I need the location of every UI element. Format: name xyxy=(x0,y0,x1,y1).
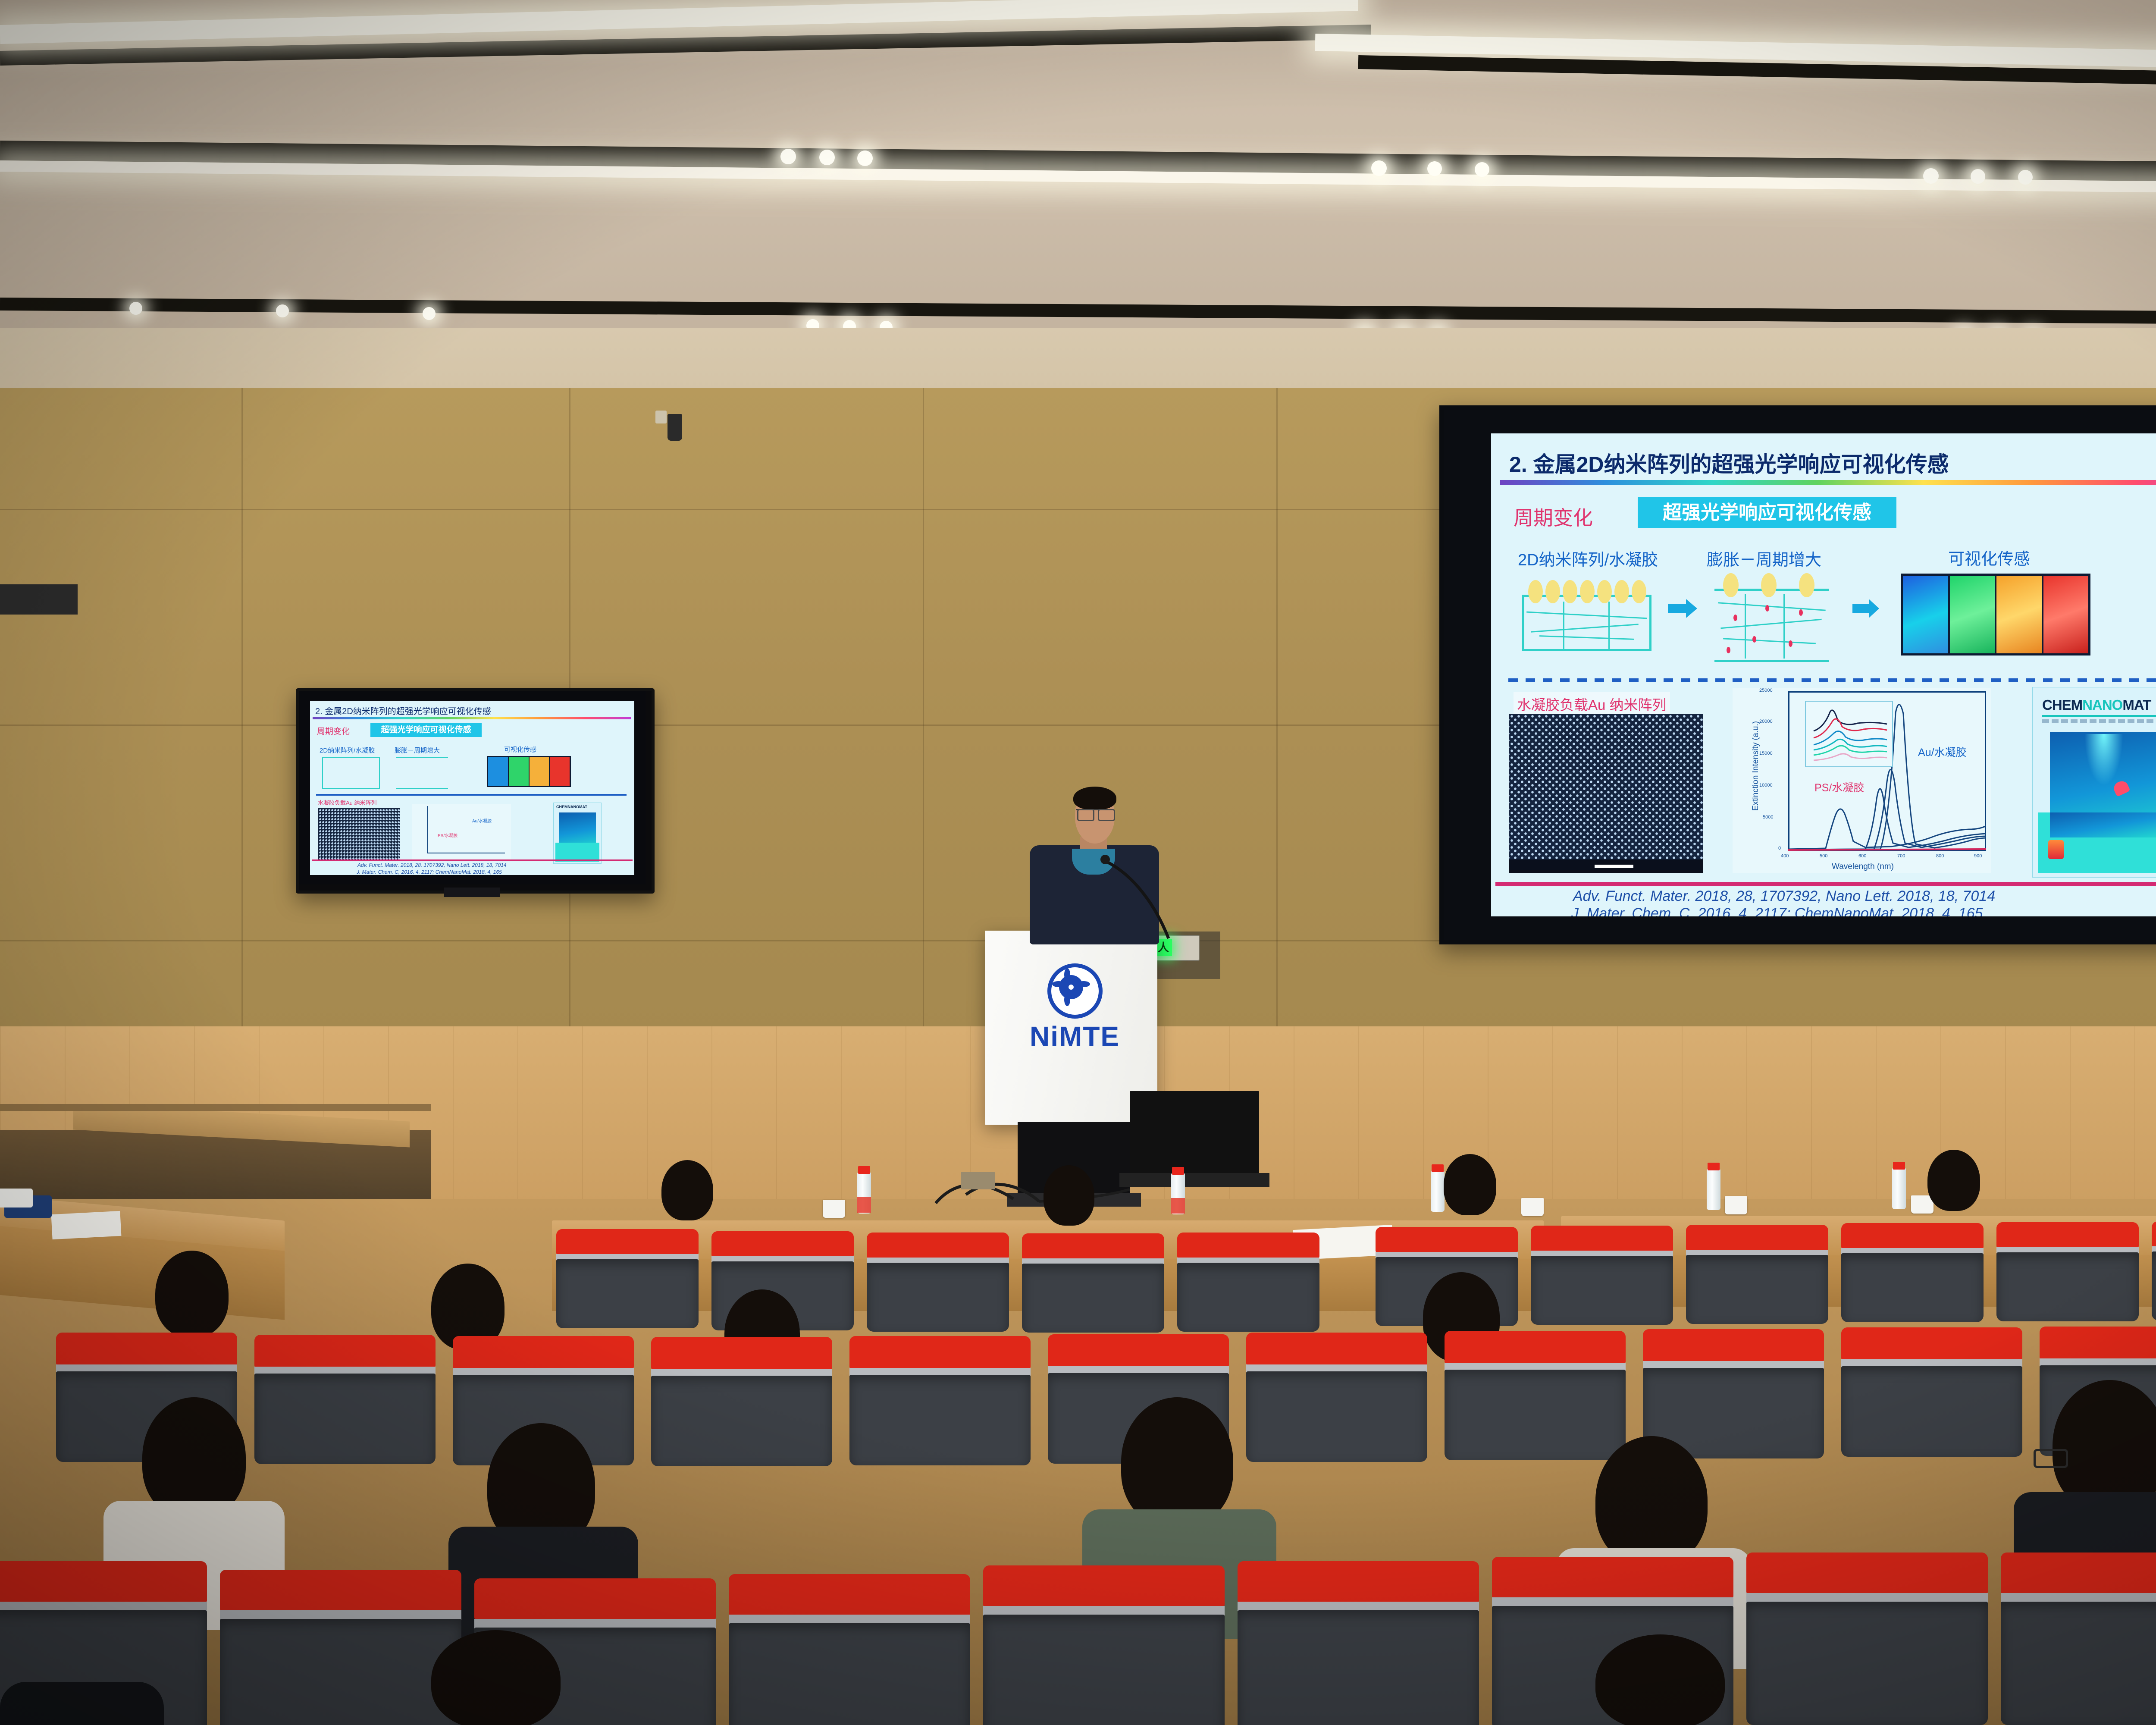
audience-head xyxy=(142,1397,246,1518)
audience-head xyxy=(661,1160,713,1220)
nimte-atom-icon xyxy=(1059,975,1083,999)
slide-content: 2. 金属2D纳米阵列的超强光学响应可视化传感 周期变化 超强光学响应可视化传感… xyxy=(1491,433,2156,916)
audience-glasses-icon xyxy=(2034,1449,2068,1468)
seat xyxy=(983,1565,1225,1725)
downlight xyxy=(819,150,835,165)
y-tick-label: 15000 xyxy=(1759,751,1773,756)
bottle-cap xyxy=(1432,1164,1444,1172)
seat xyxy=(556,1229,699,1328)
monitor-stand xyxy=(444,888,500,897)
seat xyxy=(2152,1221,2156,1320)
microphone-head-icon xyxy=(1100,855,1110,864)
monitor-diagram-2 xyxy=(396,757,448,789)
bottle-cap xyxy=(1893,1162,1905,1170)
downlight xyxy=(1475,162,1489,177)
monitor-curve-au: Au/水凝胶 xyxy=(472,817,492,824)
floor-plate xyxy=(961,1172,995,1189)
seat xyxy=(1445,1331,1626,1460)
flow-arrow-1-head-icon xyxy=(1686,599,1697,618)
paper-cup xyxy=(823,1200,845,1218)
spectra-inset xyxy=(1805,701,1893,767)
y-tick-label: 0 xyxy=(1778,846,1781,851)
seat xyxy=(867,1233,1009,1332)
water-bottle xyxy=(1892,1168,1906,1209)
monitor-slide: 2. 金属2D纳米阵列的超强光学响应可视化传感 周期变化 超强光学响应可视化传感… xyxy=(310,701,634,875)
nimte-logo-icon xyxy=(1047,963,1103,1019)
monitor-journal-cover: CHEMNANOMAT xyxy=(553,803,602,864)
seat xyxy=(1996,1222,2139,1321)
journal-title-part3: MAT xyxy=(2122,697,2151,713)
swatch-orange xyxy=(1996,576,2042,653)
sem-scalebar-line xyxy=(1595,865,1633,868)
projection-screen: 2. 金属2D纳米阵列的超强光学响应可视化传感 周期变化 超强光学响应可视化传感… xyxy=(1439,405,2156,944)
downlight xyxy=(1923,168,1939,184)
seat xyxy=(254,1335,436,1464)
monitor-diagram-1 xyxy=(322,757,380,789)
monitor-banner: 超强光学响应可视化传感 xyxy=(370,723,482,737)
flow-step-3-label: 可视化传感 xyxy=(1948,546,2030,569)
x-tick-label: 700 xyxy=(1897,853,1905,859)
x-tick-label: 500 xyxy=(1820,853,1827,859)
downlight xyxy=(423,307,436,320)
seat xyxy=(1531,1226,1673,1325)
monitor-citation-rule xyxy=(312,859,633,861)
monitor-screen: 2. 金属2D纳米阵列的超强光学响应可视化传感 周期变化 超强光学响应可视化传感… xyxy=(299,691,646,884)
seat xyxy=(1841,1327,2022,1457)
x-tick-label: 900 xyxy=(1974,853,1982,859)
folded-tissue xyxy=(0,1189,33,1207)
monitor-citation-2: J. Mater. Chem. C, 2016, 4, 2117; ChemNa… xyxy=(357,869,502,875)
monitor-journal-title: CHEMNANOMAT xyxy=(556,805,587,809)
seat xyxy=(1686,1225,1828,1324)
seat xyxy=(1246,1333,1427,1462)
audience-head-foreground xyxy=(431,1630,561,1725)
monitor-cover-footer xyxy=(555,843,599,862)
slide-title: 2. 金属2D纳米阵列的超强光学响应可视化传感 xyxy=(1509,447,1949,478)
seat xyxy=(1841,1223,1984,1322)
wall-seam-v xyxy=(1276,388,1278,1026)
monitor-swatches xyxy=(487,756,571,787)
nanoarray-diagram-2 xyxy=(1714,571,1835,666)
seat xyxy=(651,1337,832,1466)
nimte-petal-icon xyxy=(1077,981,1090,987)
journal-subtitle xyxy=(2042,719,2156,723)
y-tick-label: 10000 xyxy=(1759,783,1773,788)
y-tick-label: 25000 xyxy=(1759,688,1773,693)
downlight xyxy=(1971,169,1985,184)
journal-title: CHEMNANOMAT xyxy=(2042,697,2151,713)
monitor-sem-image xyxy=(318,808,400,859)
seat xyxy=(1746,1552,1988,1725)
journal-cover: CHEMNANOMAT xyxy=(2032,687,2156,878)
seat xyxy=(849,1336,1031,1465)
swatch-red xyxy=(2043,576,2089,653)
flow-step-2-label: 膨胀－周期增大 xyxy=(1707,546,1821,570)
downlight xyxy=(1427,161,1442,176)
inset-curves xyxy=(1806,702,1892,766)
seat xyxy=(1238,1561,1479,1725)
monitor-cover-art xyxy=(559,812,596,847)
wall-recess xyxy=(0,584,78,615)
bottle-cap xyxy=(858,1166,870,1174)
paper-cup xyxy=(1521,1198,1544,1216)
seat xyxy=(2001,1552,2156,1725)
journal-cover-art-lower xyxy=(2050,812,2156,837)
flow-arrow-2-icon xyxy=(1852,604,1871,613)
monitor-section-label: 周期变化 xyxy=(317,725,350,737)
downlight xyxy=(276,304,289,317)
citation-line-2: J. Mater. Chem. C, 2016, 4, 2117; ChemNa… xyxy=(1571,905,1983,916)
audience-head xyxy=(1121,1397,1233,1527)
x-tick-label: 600 xyxy=(1858,853,1866,859)
audience-head-foreground xyxy=(1595,1634,1725,1725)
monitor-step1: 2D纳米阵列/水凝胶 xyxy=(320,746,375,755)
auditorium-scene: 2. 金属2D纳米阵列的超强光学响应可视化传感 周期变化 超强光学响应可视化传感… xyxy=(0,0,2156,1725)
water-bottle xyxy=(1707,1169,1720,1210)
water-bottle xyxy=(1431,1170,1445,1212)
monitor-divider xyxy=(316,794,627,796)
nimte-petal-icon xyxy=(1052,981,1065,987)
audience-head xyxy=(1595,1436,1708,1565)
journal-cover-art-beam xyxy=(2084,734,2123,786)
bottle-label xyxy=(857,1197,871,1213)
seat xyxy=(729,1574,970,1725)
y-tick-label: 20000 xyxy=(1759,719,1773,724)
downlight xyxy=(1371,160,1387,176)
slide-divider xyxy=(1508,678,2156,682)
camera-mount xyxy=(655,411,667,423)
monitor-citation-1: Adv. Funct. Mater. 2018, 28, 1707392, Na… xyxy=(357,862,507,868)
wall-seam-v xyxy=(923,388,924,1026)
section-label: 周期变化 xyxy=(1514,502,1593,531)
citation-line-1: Adv. Funct. Mater. 2018, 28, 1707392, Na… xyxy=(1573,888,1995,905)
journal-rule xyxy=(2042,715,2156,717)
plot-y-axis-label: Extinction Intensity (a.u.) xyxy=(1751,701,1761,831)
speaker-glasses-lens-icon xyxy=(1077,809,1094,821)
plot-x-axis-label: Wavelength (nm) xyxy=(1832,862,1894,872)
y-tick-label: 5000 xyxy=(1763,815,1773,820)
audience-head xyxy=(1927,1150,1980,1211)
downlight xyxy=(129,302,142,315)
seat xyxy=(1643,1329,1824,1458)
audience-head xyxy=(1044,1165,1094,1226)
highlight-banner: 超强光学响应可视化传感 xyxy=(1638,497,1896,528)
flow-arrow-1-icon xyxy=(1668,604,1688,613)
bottle-cap xyxy=(1708,1163,1720,1170)
seat xyxy=(1022,1233,1164,1333)
seat xyxy=(1177,1233,1319,1332)
flow-step-1-label: 2D纳米阵列/水凝胶 xyxy=(1518,546,1658,570)
x-tick-label: 800 xyxy=(1936,853,1944,859)
stage-monitor-speaker xyxy=(1130,1091,1259,1177)
monitor-title-rule xyxy=(313,717,631,719)
speaker-glasses-lens-icon xyxy=(1098,809,1115,821)
journal-title-part2: NANO xyxy=(2082,697,2122,713)
stage-riser-edge xyxy=(0,1104,431,1111)
flow-arrow-2-head-icon xyxy=(1869,599,1879,618)
color-sensing-panel xyxy=(1901,574,2090,655)
audience-figure-foreground xyxy=(0,1682,164,1725)
citation-rule xyxy=(1495,882,2156,886)
bottle-label xyxy=(1171,1198,1185,1214)
journal-title-part1: CHEM xyxy=(2042,697,2082,713)
spectra-plot: 25000 20000 15000 10000 5000 0 400 500 6… xyxy=(1733,688,1991,873)
bottle-cap xyxy=(1172,1167,1184,1175)
audience-head xyxy=(1444,1154,1496,1215)
x-tick-label: 400 xyxy=(1781,853,1789,859)
title-rule xyxy=(1500,480,2156,485)
monitor-slide-title: 2. 金属2D纳米阵列的超强光学响应可视化传感 xyxy=(315,704,491,717)
nanoarray-diagram-1 xyxy=(1522,576,1656,653)
sem-image-body xyxy=(1509,714,1703,873)
curve-label-ps: PS/水凝胶 xyxy=(1814,779,1864,795)
microphone xyxy=(1104,858,1177,940)
monitor-step2: 膨胀－周期增大 xyxy=(395,746,440,755)
monitor-sem-label: 水凝胶负载Au 纳米阵列 xyxy=(318,798,377,806)
monitor-step3: 可视化传感 xyxy=(504,745,536,754)
sem-label: 水凝胶负载Au 纳米阵列 xyxy=(1514,692,1670,715)
downlight xyxy=(780,149,796,164)
nimte-petal-icon xyxy=(1064,993,1070,1006)
confidence-monitor: 2. 金属2D纳米阵列的超强光学响应可视化传感 周期变化 超强光学响应可视化传感… xyxy=(296,688,655,894)
downlight xyxy=(857,151,873,166)
document-on-desk xyxy=(51,1211,122,1239)
curve-label-au: Au/水凝胶 xyxy=(1918,744,1967,759)
paper-cup xyxy=(1725,1196,1747,1214)
wall-seam-v xyxy=(241,388,243,1026)
monitor-curve-ps: PS/水凝胶 xyxy=(438,832,458,838)
security-camera xyxy=(667,414,682,441)
downlight xyxy=(2018,170,2033,185)
podium-logo-text: NiMTE xyxy=(1030,1020,1120,1052)
swatch-green xyxy=(1950,576,1995,653)
stage-monitor-speaker-base xyxy=(1119,1173,1269,1187)
audience-head xyxy=(155,1251,229,1337)
swatch-blue xyxy=(1903,576,1948,653)
speaker-hair xyxy=(1073,787,1116,810)
seat xyxy=(220,1570,461,1725)
monitor-plot: Au/水凝胶 PS/水凝胶 xyxy=(412,804,511,861)
journal-badge xyxy=(2048,840,2064,859)
nimte-petal-icon xyxy=(1064,968,1070,981)
